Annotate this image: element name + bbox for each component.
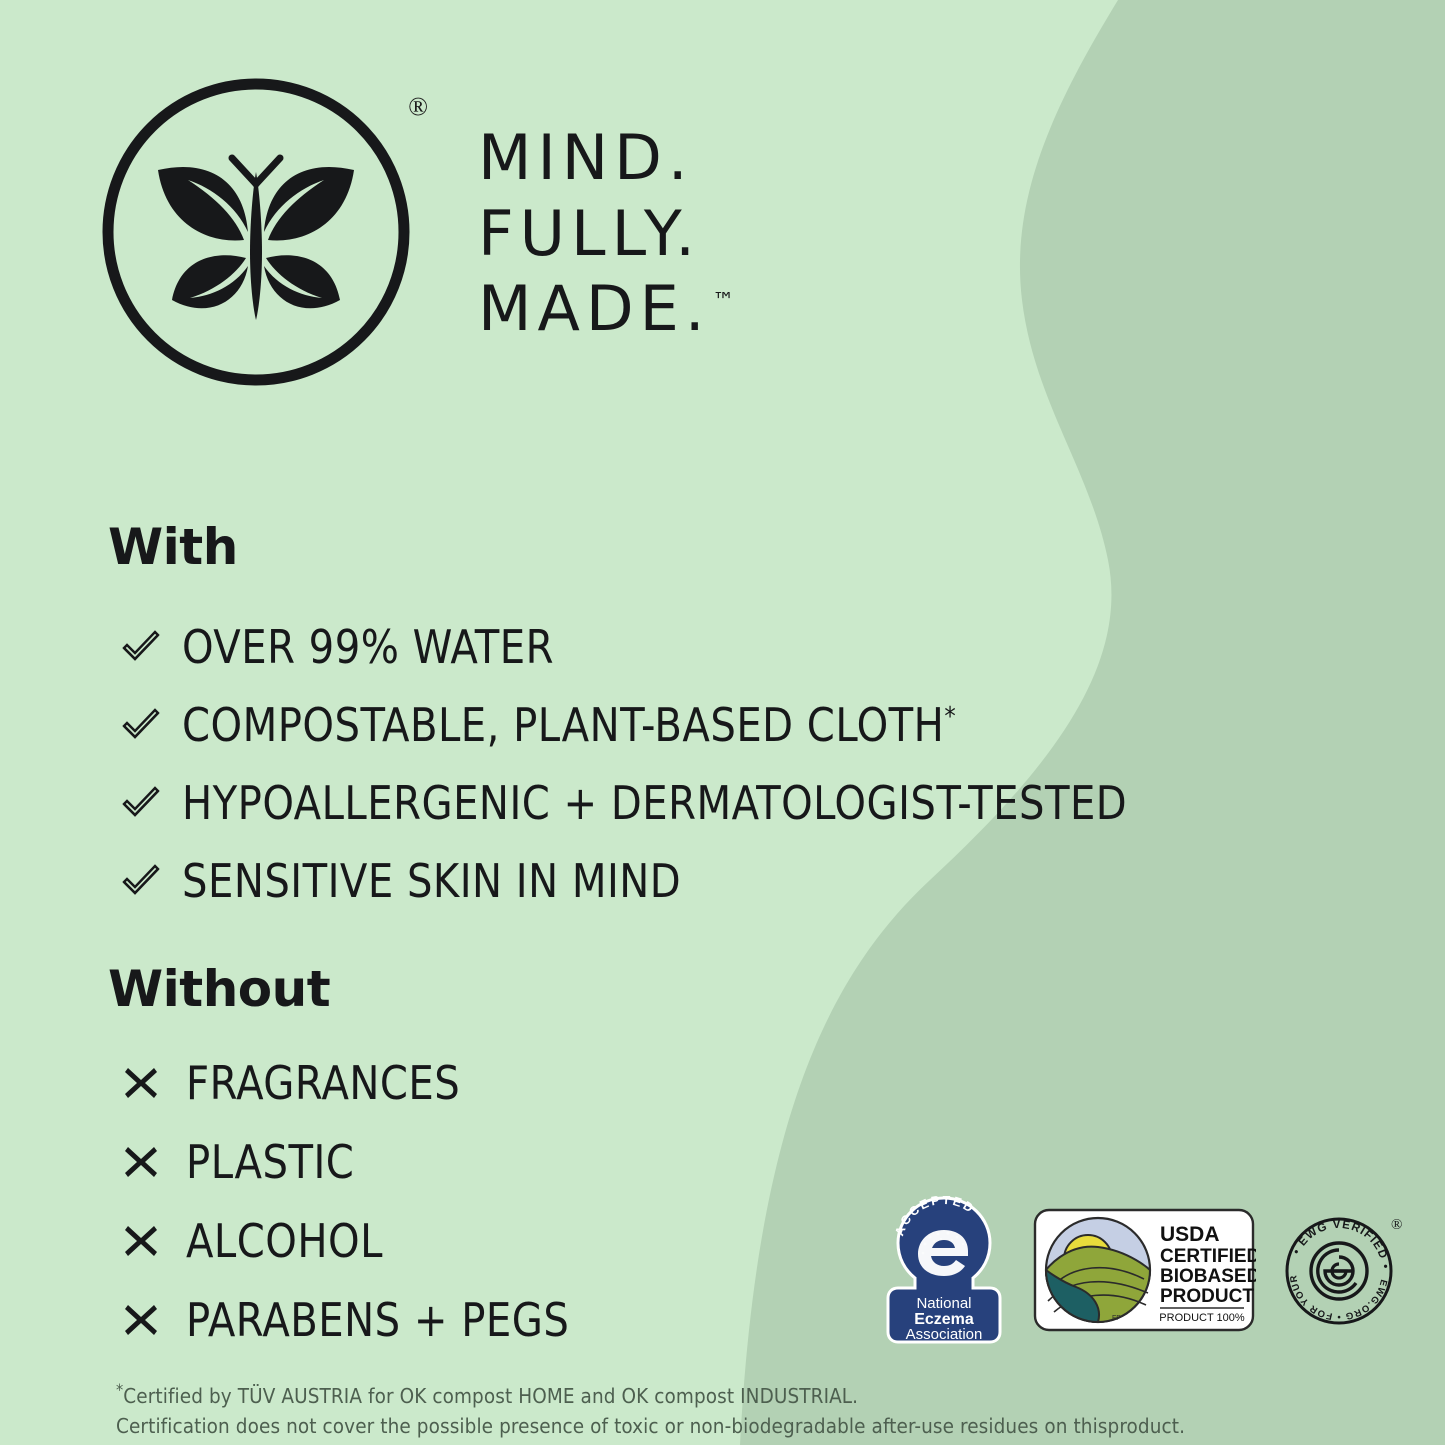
certification-badges: ACCEPTED National Eczema Association [878,1196,1404,1344]
badge-line-3: BIOBASED [1160,1266,1256,1287]
badge-line-4: PRODUCT [1160,1286,1254,1307]
list-item-text: COMPOSTABLE, PLANT-BASED CLOTH [182,698,944,752]
check-icon [118,780,164,826]
with-section-heading: With [108,518,238,576]
list-item-label: HYPOALLERGENIC + DERMATOLOGIST-TESTED [182,776,1127,830]
list-item: ALCOHOL [118,1201,581,1280]
list-item-label: PLASTIC [186,1135,354,1189]
national-eczema-association-badge: ACCEPTED National Eczema Association [878,1196,1010,1344]
x-icon [118,1139,164,1185]
x-icon [118,1218,164,1264]
wordmark-line-1: MIND. [478,120,736,196]
footnote: *Certified by TÜV AUSTRIA for OK compost… [116,1378,1296,1442]
ewg-verified-badge: • EWG VERIFIED • EWG.ORG • FOR YOUR HEAL… [1278,1207,1404,1333]
trademark-icon: ™ [713,289,736,314]
footnote-line-1: *Certified by TÜV AUSTRIA for OK compost… [116,1378,1296,1411]
without-section-heading: Without [108,960,330,1018]
list-item-label: PARABENS + PEGS [186,1293,569,1347]
product-claims-panel: ® MIND. FULLY. MADE.™ With OVER 99% WATE… [0,0,1445,1445]
list-item: SENSITIVE SKIN IN MIND [118,842,1156,920]
wordmark-line-3-text: MADE. [478,272,711,345]
list-item-superscript: * [944,702,956,732]
list-item: FRAGRANCES [118,1043,581,1122]
list-item: PARABENS + PEGS [118,1280,581,1359]
check-icon [118,858,164,904]
list-item: OVER 99% WATER [118,608,1156,686]
list-item-label: SENSITIVE SKIN IN MIND [182,854,681,908]
butterfly-in-circle-logo: ® [96,72,416,392]
badge-corner-code: FP [1112,1315,1121,1322]
registered-trademark-icon: ® [1391,1217,1402,1233]
usda-certified-biobased-product-badge: FP USDA CERTIFIED BIOBASED PRODUCT PRODU… [1032,1207,1256,1333]
badge-line-1: USDA [1160,1223,1220,1246]
list-item-text: OVER 99% WATER [182,620,554,674]
brand-header: ® MIND. FULLY. MADE.™ [96,72,736,392]
list-item-label: ALCOHOL [186,1214,383,1268]
with-feature-list: OVER 99% WATER COMPOSTABLE, PLANT-BASED … [118,608,1156,920]
wordmark-line-2: FULLY. [478,196,736,272]
list-item-label: FRAGRANCES [186,1056,460,1110]
list-item-text: SENSITIVE SKIN IN MIND [182,854,681,908]
butterfly-logo-svg [96,72,416,392]
list-item: HYPOALLERGENIC + DERMATOLOGIST-TESTED [118,764,1156,842]
x-icon [118,1297,164,1343]
wordmark: MIND. FULLY. MADE.™ [478,120,736,347]
badge-line-1: National [916,1295,971,1312]
list-item: COMPOSTABLE, PLANT-BASED CLOTH* [118,686,1156,764]
check-icon [118,702,164,748]
without-feature-list: FRAGRANCES PLASTIC ALCOHOL PARABENS + PE… [118,1043,581,1359]
badge-line-3: Association [906,1326,983,1343]
x-icon [118,1060,164,1106]
badge-sub-text: PRODUCT 100% [1159,1312,1245,1324]
list-item-label: COMPOSTABLE, PLANT-BASED CLOTH* [182,698,956,752]
list-item-text: HYPOALLERGENIC + DERMATOLOGIST-TESTED [182,776,1127,830]
list-item: PLASTIC [118,1122,581,1201]
registered-trademark-icon: ® [408,92,428,122]
list-item-label: OVER 99% WATER [182,620,554,674]
check-icon [118,624,164,670]
footnote-line-2: Certification does not cover the possibl… [116,1411,1296,1441]
badge-line-2: CERTIFIED [1160,1246,1256,1267]
footnote-line-1-text: Certified by TÜV AUSTRIA for OK compost … [123,1384,858,1408]
wordmark-line-3: MADE.™ [478,271,736,347]
